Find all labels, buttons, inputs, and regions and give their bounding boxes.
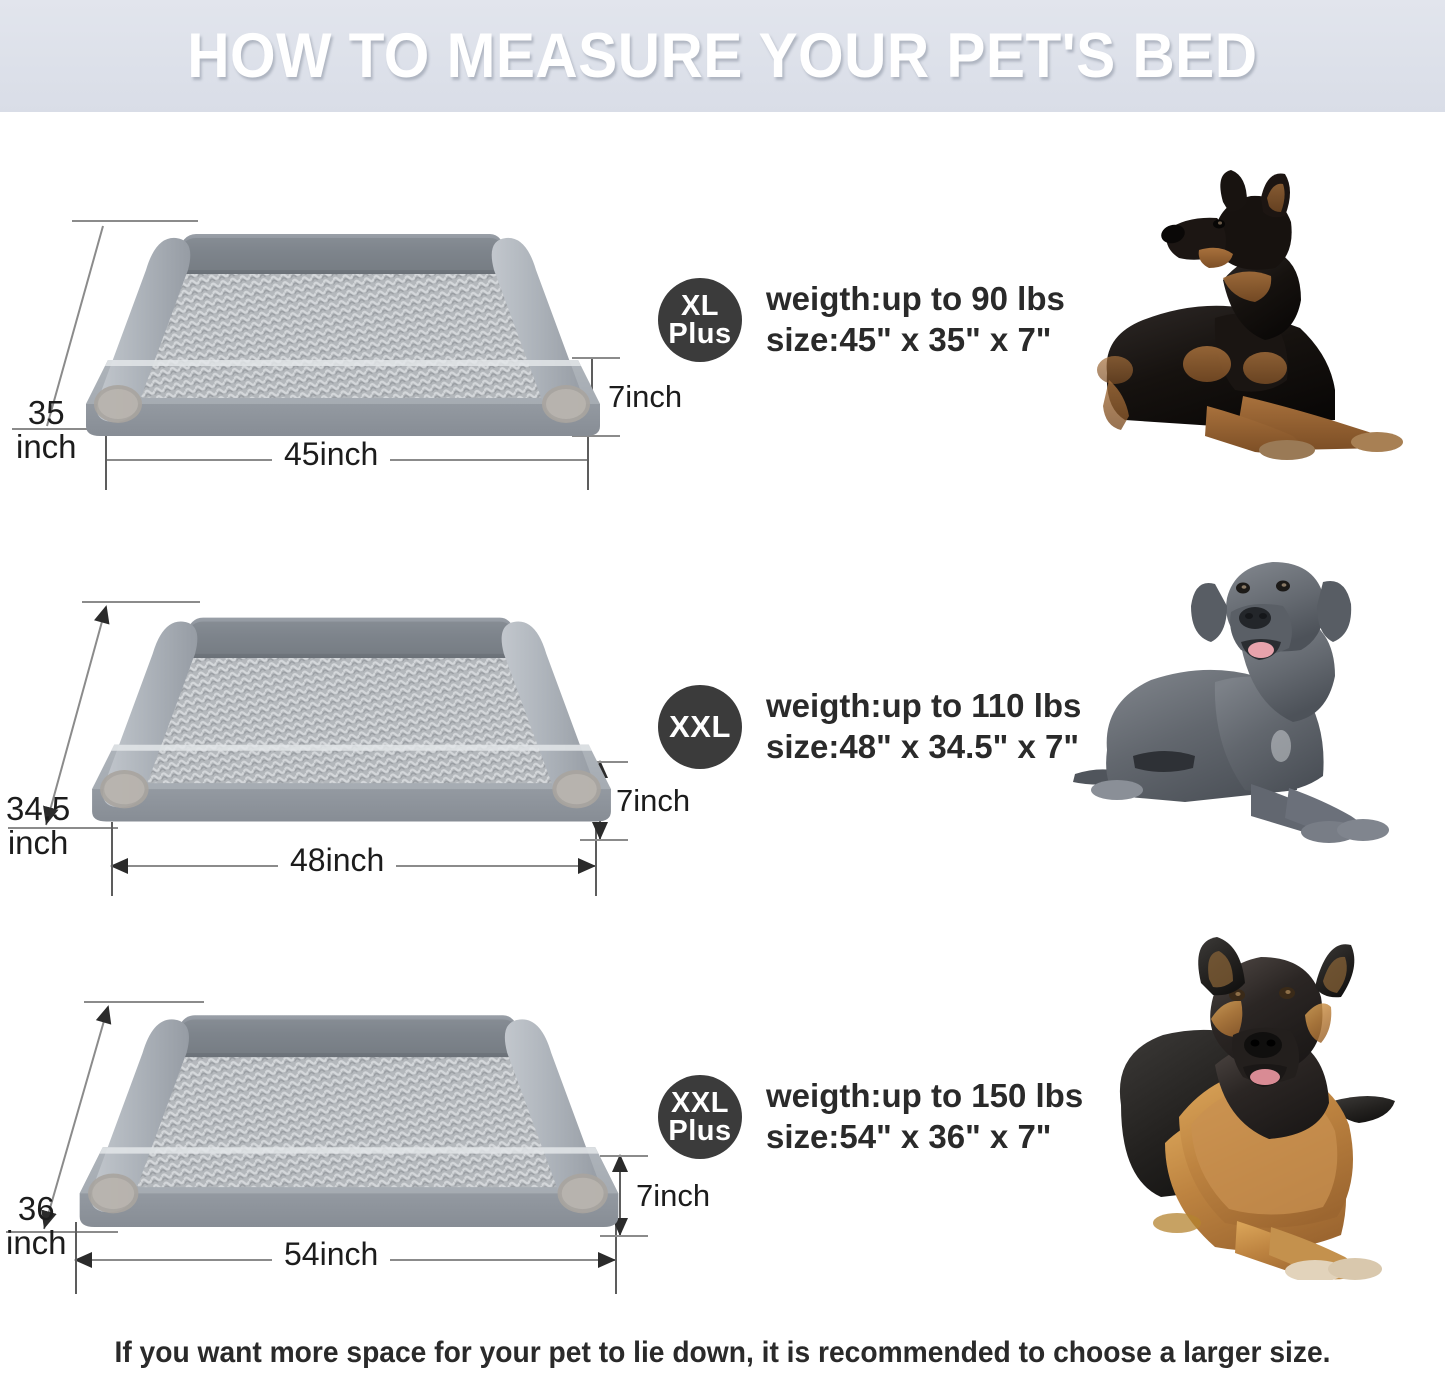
size-spec-text: weigth:up to 90 lbs size:45" x 35" x 7" (766, 279, 1065, 361)
weight-text: weigth:up to 110 lbs (766, 686, 1081, 727)
size-spec-text: weigth:up to 110 lbs size:48" x 34.5" x … (766, 686, 1081, 768)
size-spec-text: weigth:up to 150 lbs size:54" x 36" x 7" (766, 1076, 1083, 1158)
size-info: XXL weigth:up to 110 lbs size:48" x 34.5… (658, 685, 1081, 769)
size-badge-line1: XL (681, 292, 719, 320)
depth-value: 34.5 (6, 790, 70, 827)
pet-bed-illustration (78, 208, 608, 458)
size-badge-line1: XXL (671, 1089, 729, 1117)
depth-value: 35 (28, 394, 65, 431)
dog-photo-german-shepherd (1065, 935, 1445, 1280)
size-badge: XL Plus (658, 278, 742, 362)
dimensions-text: size:45" x 35" x 7" (766, 320, 1065, 361)
size-info: XXL Plus weigth:up to 150 lbs size:54" x… (658, 1075, 1083, 1159)
bed-diagram: 36 inch 54inch 7inch (0, 930, 660, 1330)
size-row-xl-plus: 35 inch 45inch 7inch XL Plus weigth:up t… (0, 130, 1445, 530)
size-badge: XXL Plus (658, 1075, 742, 1159)
size-row-xxl-plus: 36 inch 54inch 7inch XXL Plus weigth:up … (0, 930, 1445, 1330)
depth-label: 36 inch (6, 1192, 67, 1261)
depth-label: 35 inch (16, 396, 77, 465)
depth-unit: inch (6, 1226, 67, 1260)
size-info: XL Plus weigth:up to 90 lbs size:45" x 3… (658, 278, 1065, 362)
size-row-xxl: 34.5 inch 48inch 7inch XXL weigth:up to … (0, 540, 1445, 940)
depth-unit: inch (16, 430, 77, 464)
depth-unit: inch (6, 826, 70, 860)
weight-text: weigth:up to 150 lbs (766, 1076, 1083, 1117)
footer-note: If you want more space for your pet to l… (43, 1336, 1401, 1370)
header-band: HOW TO MEASURE YOUR PET'S BED (0, 0, 1445, 112)
bed-diagram: 34.5 inch 48inch 7inch (0, 540, 660, 940)
depth-value: 36 (18, 1190, 55, 1227)
height-label: 7inch (636, 1178, 710, 1214)
size-badge-line2: Plus (668, 320, 731, 348)
width-label: 54inch (272, 1236, 390, 1273)
height-label: 7inch (608, 379, 682, 415)
size-badge-line2: Plus (668, 1117, 731, 1145)
bed-diagram: 35 inch 45inch 7inch (0, 130, 660, 530)
depth-label: 34.5 inch (6, 792, 70, 861)
page-title: HOW TO MEASURE YOUR PET'S BED (187, 20, 1257, 92)
width-label: 45inch (272, 436, 390, 473)
width-label: 48inch (278, 842, 396, 879)
size-badge-line1: XXL (669, 712, 731, 742)
dimensions-text: size:48" x 34.5" x 7" (766, 727, 1081, 768)
dog-photo-doberman (1095, 168, 1440, 468)
height-label: 7inch (616, 783, 690, 819)
pet-bed-illustration (84, 590, 619, 845)
dimensions-text: size:54" x 36" x 7" (766, 1117, 1083, 1158)
pet-bed-illustration (64, 988, 634, 1250)
size-badge: XXL (658, 685, 742, 769)
weight-text: weigth:up to 90 lbs (766, 279, 1065, 320)
dog-photo-great-dane (1055, 550, 1445, 850)
